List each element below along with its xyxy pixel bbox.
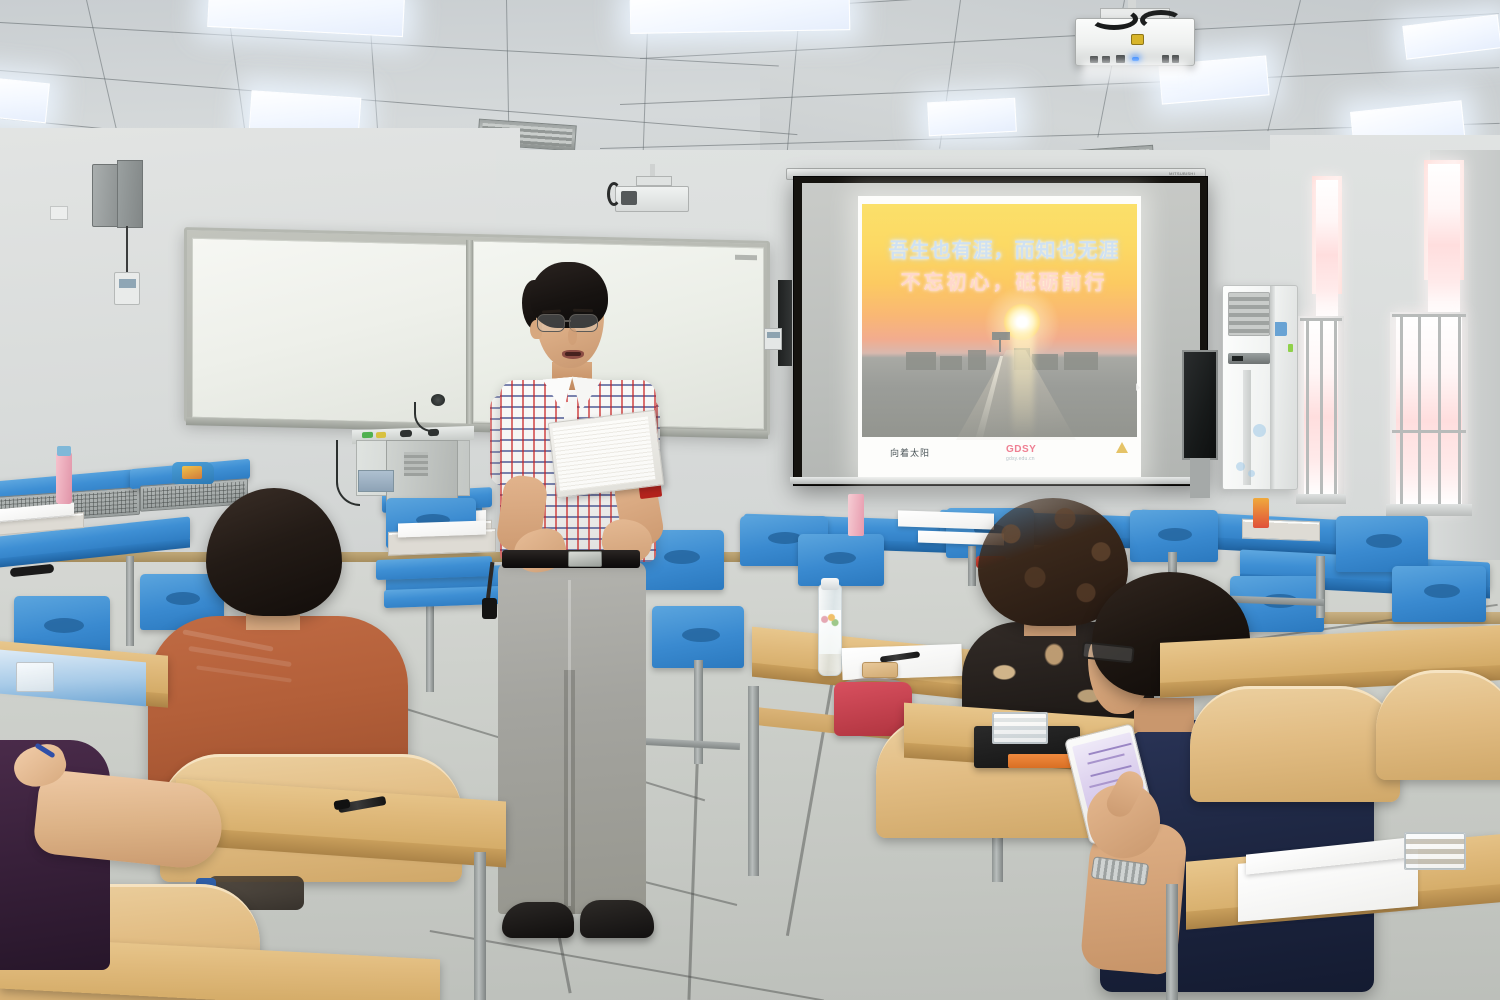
blue-chair[interactable] xyxy=(1336,516,1428,572)
window-security-bar xyxy=(1306,320,1309,496)
window-security-bar xyxy=(1300,318,1342,321)
wood-chair-back[interactable] xyxy=(1376,670,1500,780)
wall-outlet-plate xyxy=(50,206,68,220)
skyline-building xyxy=(906,352,936,370)
slide-footer-title: 向着太阳 xyxy=(890,446,930,459)
desk-leg xyxy=(748,686,759,876)
ceiling-light-panel xyxy=(927,98,1017,137)
wall-control-panel[interactable] xyxy=(114,272,140,305)
chair-handle-hole xyxy=(768,532,802,544)
road-sign-post xyxy=(999,338,1001,352)
belt-buckle xyxy=(568,551,602,567)
chair-handle-hole xyxy=(682,628,720,642)
projector-cable xyxy=(1140,10,1182,30)
skyline-building xyxy=(1064,352,1098,370)
lectern-button[interactable] xyxy=(376,432,386,438)
air-conditioner-decal xyxy=(1236,462,1245,471)
presenter-nose xyxy=(568,328,577,345)
wall-speaker-dark xyxy=(778,280,792,366)
secondary-projector-mount xyxy=(636,176,672,186)
display-stand xyxy=(1190,458,1210,498)
presenter-shoe-right xyxy=(580,900,654,938)
road-sign xyxy=(992,332,1010,340)
lectern-knob[interactable] xyxy=(400,430,412,437)
skyline-building xyxy=(1032,354,1058,370)
projected-slide: 吾生也有涯，而知也无涯 不忘初心，砥砺前行 向着太阳 GDSY gdsy.edu… xyxy=(858,196,1141,477)
wood-chair-back[interactable] xyxy=(1190,686,1400,802)
whiteboard-brand-mark xyxy=(735,255,757,261)
chair-back-highlight xyxy=(1190,686,1400,802)
sun-reflection-path xyxy=(1012,332,1034,440)
projector-vga-port xyxy=(1131,34,1144,45)
classroom-photo: MITSUBISHI MITSUBISHI 吾生也有涯，而知也 xyxy=(0,0,1500,1000)
chair-handle-hole xyxy=(44,618,84,633)
gold-smartphone xyxy=(862,662,898,678)
secondary-projector-lens xyxy=(621,191,637,205)
screen-bottom-bar xyxy=(790,477,1210,484)
projector-cable xyxy=(1090,8,1138,30)
coloured-pens-holder xyxy=(1253,498,1269,528)
chair-handle-hole xyxy=(824,552,856,564)
chair-handle-hole xyxy=(664,550,700,564)
window-security-bar xyxy=(1438,316,1441,506)
air-conditioner-grille xyxy=(1228,292,1270,336)
air-conditioner-led xyxy=(1288,344,1293,352)
slide-headline-line-1: 吾生也有涯，而知也无涯 xyxy=(870,234,1138,263)
slide-sunrise-photo: 吾生也有涯，而知也无涯 不忘初心，砥砺前行 xyxy=(862,204,1137,437)
desk-leg xyxy=(474,852,486,1000)
skyline-building xyxy=(940,356,962,370)
slide-footer-triangle-icon xyxy=(1116,442,1128,453)
window-security-bar xyxy=(1418,316,1421,506)
bottle-cap xyxy=(821,578,839,590)
window-security-bar xyxy=(1400,316,1403,506)
paper-sheets-on-desk xyxy=(841,644,962,680)
tissue-box xyxy=(16,662,54,692)
desk-leg xyxy=(694,660,703,764)
booklet-pages xyxy=(552,416,655,491)
ceiling-light-panel xyxy=(630,0,851,34)
slide-footer-logo: GDSY xyxy=(1006,444,1036,455)
window-glass xyxy=(1396,316,1462,506)
window-sill xyxy=(1386,504,1472,516)
lectern-vent xyxy=(404,452,428,476)
ceiling-light-panel xyxy=(0,77,50,124)
belt-key-strap xyxy=(486,562,495,602)
window-sill xyxy=(1296,494,1346,504)
skyline-building xyxy=(968,350,986,370)
eyeglasses-bridge xyxy=(564,320,571,322)
thermos-lid xyxy=(57,446,71,456)
window-security-bar xyxy=(1458,316,1461,506)
window-security-bar xyxy=(1392,430,1466,433)
projector-power-led xyxy=(1132,57,1139,61)
presenter-shoe-left xyxy=(502,902,574,938)
window-security-bar xyxy=(1392,314,1466,317)
air-conditioner-decal xyxy=(1253,424,1266,437)
desk-leg xyxy=(126,556,134,646)
chair-handle-hole xyxy=(1366,534,1402,548)
eyeglasses-lens-left xyxy=(537,314,565,332)
window-glass-upper xyxy=(1428,164,1460,312)
blue-chair[interactable] xyxy=(1392,566,1486,622)
air-conditioner-decal xyxy=(1248,470,1255,477)
clear-plastic-box xyxy=(992,712,1048,744)
slide-footer-url: gdsy.edu.cn xyxy=(1006,456,1035,462)
pouch-graphic xyxy=(182,466,202,479)
clear-plastic-box xyxy=(1404,832,1466,870)
air-conditioner-seam xyxy=(1270,286,1275,489)
wall-switch-plate[interactable] xyxy=(764,328,782,350)
window-security-bar xyxy=(1334,320,1337,496)
presenter-eyebrow-right xyxy=(573,309,593,313)
bottle-label xyxy=(819,610,841,654)
window-security-bar xyxy=(1320,320,1323,496)
lectern-button[interactable] xyxy=(362,432,373,438)
presenter-mouth-interior xyxy=(565,352,581,356)
projector-light-beam xyxy=(1082,62,1188,88)
window-glass-upper xyxy=(1316,180,1338,316)
student-c-neck xyxy=(1134,698,1194,732)
wall-speaker-side xyxy=(117,160,143,228)
student-purple-top: partially visible arm at lower left xyxy=(0,740,230,1000)
presenter-trouser-crease xyxy=(568,580,571,906)
chair-handle-hole xyxy=(1158,528,1192,541)
chair-back-highlight xyxy=(1376,670,1500,780)
pink-cup xyxy=(848,494,864,536)
notebook-elastic-band xyxy=(1008,754,1072,768)
key-fob xyxy=(482,598,497,619)
student-a-hair xyxy=(206,488,342,616)
air-conditioner-display[interactable] xyxy=(1228,353,1270,364)
wall-display-screen xyxy=(1182,350,1218,460)
pink-thermos xyxy=(56,452,72,504)
secondary-projector-cable xyxy=(607,182,621,206)
whiteboard-panel-left[interactable] xyxy=(192,238,467,424)
desk-leg xyxy=(1166,884,1178,1000)
slide-headline-line-2: 不忘初心，砥砺前行 xyxy=(870,266,1138,295)
chair-handle-hole xyxy=(1424,584,1460,598)
blue-chair[interactable] xyxy=(798,534,884,586)
